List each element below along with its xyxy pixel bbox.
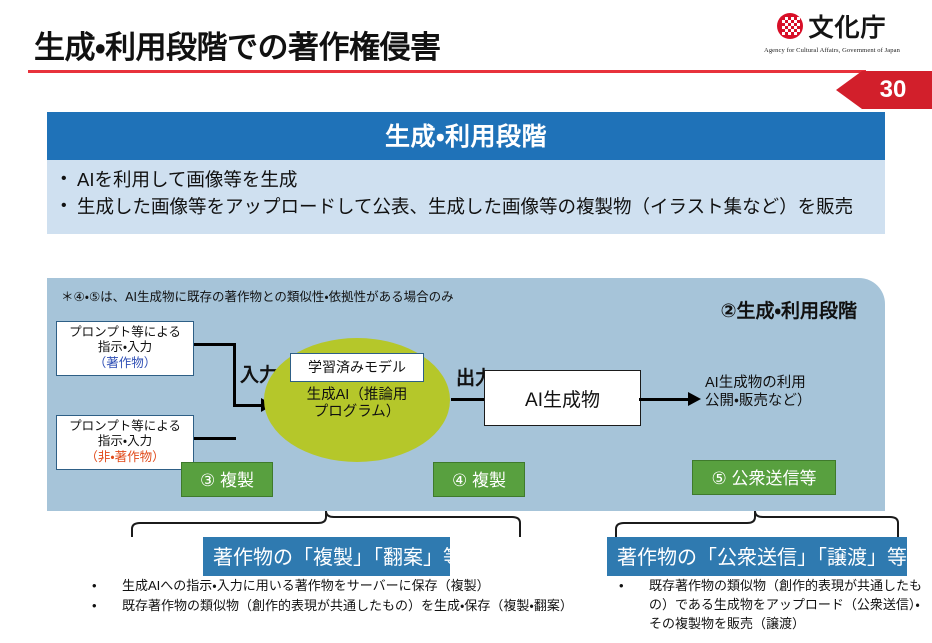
note-left-1-text: 生成AIへの指示・入力に用いる著作物をサーバーに保存（複製） (122, 577, 612, 596)
brace-left (128, 511, 528, 537)
summary-heading: 生成・利用段階 (47, 112, 885, 160)
act-badge-reproduction-3: ③ 複製 (181, 462, 273, 497)
usage-arrow-head-icon (688, 392, 701, 406)
brace-right-icon (612, 511, 902, 537)
brace-right (612, 511, 902, 537)
bullet-dot-icon: • (61, 195, 77, 220)
notes-right-column: • 既存著作物の類似物（創作的表現が共通したもの）である生成物をアップロード（公… (619, 577, 924, 635)
act-badge-reproduction-4: ④ 複製 (433, 462, 525, 497)
usage-description-line2: 公開・販売など） (705, 392, 811, 410)
notes-left-column: • 生成AIへの指示・入力に用いる著作物をサーバーに保存（複製） • 既存著作物… (92, 577, 612, 617)
bullet-dot-icon: • (92, 577, 122, 596)
summary-body: • AIを利用して画像等を生成 • 生成した画像等をアップロードして公表、生成し… (47, 160, 885, 234)
note-left-2: • 既存著作物の類似物（創作的表現が共通したもの）を生成・保存（複製・翻案） (92, 597, 612, 616)
summary-bullet-1-text: AIを利用して画像等を生成 (77, 168, 871, 193)
bullet-dot-icon: • (92, 597, 122, 616)
page-title: 生成・利用段階での著作権侵害 (34, 22, 441, 67)
prompt-input-box-noncopyrighted: プロンプト等による 指示・入力 （非・著作物） (56, 415, 194, 470)
logo-row: 文化庁 (746, 8, 918, 44)
cultural-affairs-seal-icon (777, 13, 803, 39)
diagram-stage-label: ②生成・利用段階 (720, 296, 857, 323)
flow-diagram-panel: ＊④・⑤は、AI生成物に既存の著作物との類似性・依拠性がある場合のみ ②生成・利… (47, 278, 885, 511)
usage-description-line1: AI生成物の利用 (705, 374, 811, 392)
connector-line-vertical (233, 343, 236, 407)
ai-generated-output-box: AI生成物 (484, 370, 641, 426)
prompt-box-1-line1: プロンプト等による (59, 325, 191, 340)
note-left-2-text: 既存著作物の類似物（創作的表現が共通したもの）を生成・保存（複製・翻案） (122, 597, 612, 616)
page-number-badge: 30 (836, 71, 932, 109)
connector-line-bottom (194, 437, 236, 440)
act-badge-public-transmission-5: ⑤ 公衆送信等 (692, 460, 836, 495)
prompt-box-1-line3: （著作物） (59, 356, 191, 371)
generative-ai-model-ellipse: 学習済みモデル 生成AI（推論用 プログラム） (264, 338, 450, 462)
diagram-footnote: ＊④・⑤は、AI生成物に既存の著作物との類似性・依拠性がある場合のみ (61, 286, 454, 305)
note-right-1-text: 既存著作物の類似物（創作的表現が共通したもの）である生成物をアップロード（公衆送… (649, 577, 924, 634)
model-caption-line1: 生成AI（推論用 (264, 387, 450, 404)
summary-bullet-2: • 生成した画像等をアップロードして公表、生成した画像等の複製物（イラスト集など… (61, 195, 871, 220)
summary-panel: 生成・利用段階 • AIを利用して画像等を生成 • 生成した画像等をアップロード… (47, 112, 885, 234)
conclusion-bar-transmission: 著作物の「公衆送信」「譲渡」等 (607, 537, 907, 576)
model-caption-line2: プログラム） (264, 404, 450, 421)
logo-kanji-text: 文化庁 (808, 8, 886, 44)
bullet-dot-icon: • (619, 577, 649, 634)
summary-bullet-2-text: 生成した画像等をアップロードして公表、生成した画像等の複製物（イラスト集など）を… (77, 195, 871, 220)
connector-line-top (194, 343, 236, 346)
agency-logo: 文化庁 Agency for Cultural Affairs, Governm… (746, 8, 918, 54)
note-left-1: • 生成AIへの指示・入力に用いる著作物をサーバーに保存（複製） (92, 577, 612, 596)
logo-subtitle: Agency for Cultural Affairs, Government … (746, 47, 918, 54)
title-divider-rule (28, 70, 866, 73)
trained-model-box: 学習済みモデル (290, 353, 424, 382)
brace-left-icon (128, 511, 528, 537)
model-caption: 生成AI（推論用 プログラム） (264, 387, 450, 422)
summary-bullet-1: • AIを利用して画像等を生成 (61, 168, 871, 193)
input-arrow-line (233, 404, 263, 407)
usage-arrow-line (639, 398, 691, 401)
prompt-box-2-line3: （非・著作物） (59, 450, 191, 465)
usage-description: AI生成物の利用 公開・販売など） (705, 374, 811, 410)
prompt-box-2-line1: プロンプト等による (59, 419, 191, 434)
prompt-input-box-copyrighted: プロンプト等による 指示・入力 （著作物） (56, 321, 194, 376)
conclusion-bar-reproduction: 著作物の「複製」「翻案」等 (203, 537, 450, 576)
note-right-1: • 既存著作物の類似物（創作的表現が共通したもの）である生成物をアップロード（公… (619, 577, 924, 634)
bullet-dot-icon: • (61, 168, 77, 193)
prompt-box-2-line2: 指示・入力 (59, 434, 191, 449)
prompt-box-1-line2: 指示・入力 (59, 340, 191, 355)
